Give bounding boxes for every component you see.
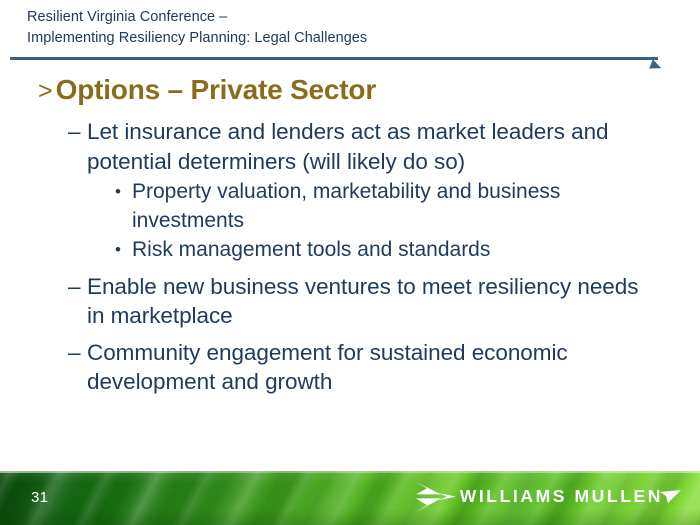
chevron-arrow-icon (414, 482, 456, 512)
bullet-marker-dash: – (68, 117, 87, 176)
bullet-text: Enable new business ventures to meet res… (87, 272, 642, 331)
bullet-text: Property valuation, marketability and bu… (132, 178, 630, 235)
bullet-marker-dot: • (115, 178, 132, 235)
logo-tail-mark-icon (660, 490, 681, 504)
bullet-marker-dash: – (68, 272, 87, 331)
header-line-2: Implementing Resiliency Planning: Legal … (27, 28, 667, 49)
page-number: 31 (31, 490, 48, 505)
title-text: Options – Private Sector (56, 76, 376, 104)
list-item: – Let insurance and lenders act as marke… (0, 117, 700, 176)
page-title: > Options – Private Sector (38, 76, 376, 104)
list-item: • Property valuation, marketability and … (0, 178, 700, 235)
slide-footer: 31 WILLIAMS MULLEN (0, 471, 700, 525)
bullet-marker-dash: – (68, 338, 87, 397)
logo-wordmark: WILLIAMS MULLEN (460, 488, 663, 506)
slide: Resilient Virginia Conference – Implemen… (0, 0, 700, 525)
williams-mullen-logo: WILLIAMS MULLEN (414, 482, 681, 512)
divider-arrowhead-icon (649, 59, 663, 72)
divider-line (10, 57, 658, 60)
footer-top-edge (0, 471, 700, 473)
list-item: • Risk management tools and standards (0, 236, 700, 265)
bullet-marker-dot: • (115, 236, 132, 265)
header-divider (10, 57, 662, 67)
header-line-1: Resilient Virginia Conference – (27, 7, 667, 28)
bullet-text: Let insurance and lenders act as market … (87, 117, 642, 176)
bullet-text: Risk management tools and standards (132, 236, 630, 265)
list-item: – Community engagement for sustained eco… (0, 338, 700, 397)
list-item: – Enable new business ventures to meet r… (0, 272, 700, 331)
bullet-list: – Let insurance and lenders act as marke… (0, 117, 700, 399)
title-chevron-icon: > (38, 79, 53, 104)
slide-header: Resilient Virginia Conference – Implemen… (27, 7, 667, 48)
bullet-text: Community engagement for sustained econo… (87, 338, 642, 397)
